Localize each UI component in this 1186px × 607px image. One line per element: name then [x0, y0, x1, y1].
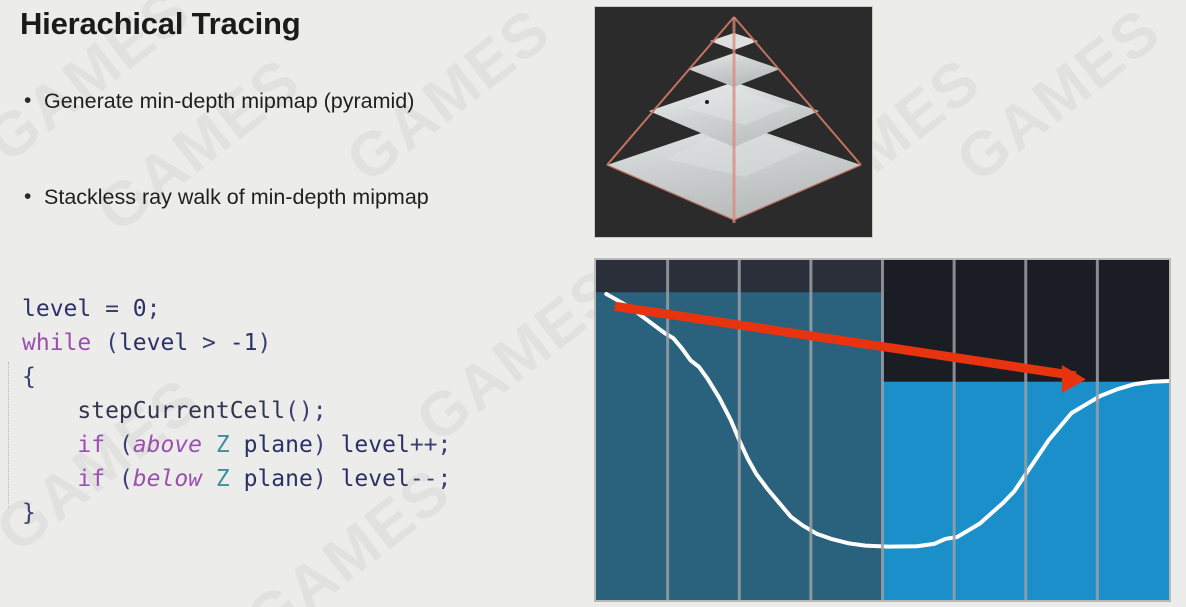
code-token: Z [216, 432, 230, 458]
watermark: GAMES [83, 44, 314, 246]
code-token: if [77, 466, 105, 492]
code-line: if (above Z plane) level++; [22, 428, 451, 462]
code-token: = [91, 296, 133, 322]
code-line: level = 0; [22, 292, 451, 326]
mipmap-pyramid-image [594, 6, 873, 238]
code-line: } [22, 496, 451, 530]
code-token: level [22, 296, 91, 322]
code-token: plane [230, 466, 313, 492]
code-indent-guide [8, 362, 9, 508]
mip-walk-svg [596, 260, 1169, 600]
code-token: ) [257, 330, 271, 356]
bullet-item: • Stackless ray walk of min-depth mipmap [22, 184, 429, 210]
code-line: { [22, 360, 451, 394]
code-block: level = 0;while (level > -1){ stepCurren… [22, 292, 451, 530]
code-token [22, 398, 77, 424]
code-token: ( [105, 432, 133, 458]
code-token: -1 [230, 330, 258, 356]
code-token: while [22, 330, 91, 356]
code-token [202, 466, 216, 492]
bullet-item: • Generate min-depth mipmap (pyramid) [22, 88, 414, 114]
bullet-marker-icon: • [22, 88, 44, 114]
code-token: ( [91, 330, 119, 356]
slide-canvas: GAMES GAMES GAMES GAMES GAMES GAMES GAME… [0, 0, 1186, 607]
code-token: --; [410, 466, 452, 492]
code-token: plane [230, 432, 313, 458]
pyramid-svg [595, 7, 872, 237]
code-token: level [119, 330, 188, 356]
watermark: GAMES [943, 0, 1174, 197]
code-line: if (below Z plane) level--; [22, 462, 451, 496]
code-token: ; [147, 296, 161, 322]
bullet-marker-icon: • [22, 184, 44, 210]
code-line: stepCurrentCell(); [22, 394, 451, 428]
code-token [22, 432, 77, 458]
code-token: 0 [133, 296, 147, 322]
code-line: while (level > -1) [22, 326, 451, 360]
code-token: } [22, 500, 36, 526]
code-token: Z [216, 466, 230, 492]
code-token: below [133, 466, 202, 492]
code-token: ( [105, 466, 133, 492]
code-token: if [77, 432, 105, 458]
code-token: level [341, 466, 410, 492]
code-token: level [341, 432, 410, 458]
code-token [22, 466, 77, 492]
code-token: > [188, 330, 230, 356]
code-token: ) [313, 466, 341, 492]
code-token: { [22, 364, 36, 390]
code-token [202, 432, 216, 458]
bullet-text: Stackless ray walk of min-depth mipmap [44, 184, 429, 210]
code-token: ++; [410, 432, 452, 458]
code-token: stepCurrentCell [77, 398, 285, 424]
code-token: above [133, 432, 202, 458]
code-token: (); [285, 398, 327, 424]
mipmap-cell-walk-diagram [594, 258, 1171, 602]
code-token: ) [313, 432, 341, 458]
slide-title: Hierachical Tracing [20, 6, 301, 42]
bullet-text: Generate min-depth mipmap (pyramid) [44, 88, 414, 114]
